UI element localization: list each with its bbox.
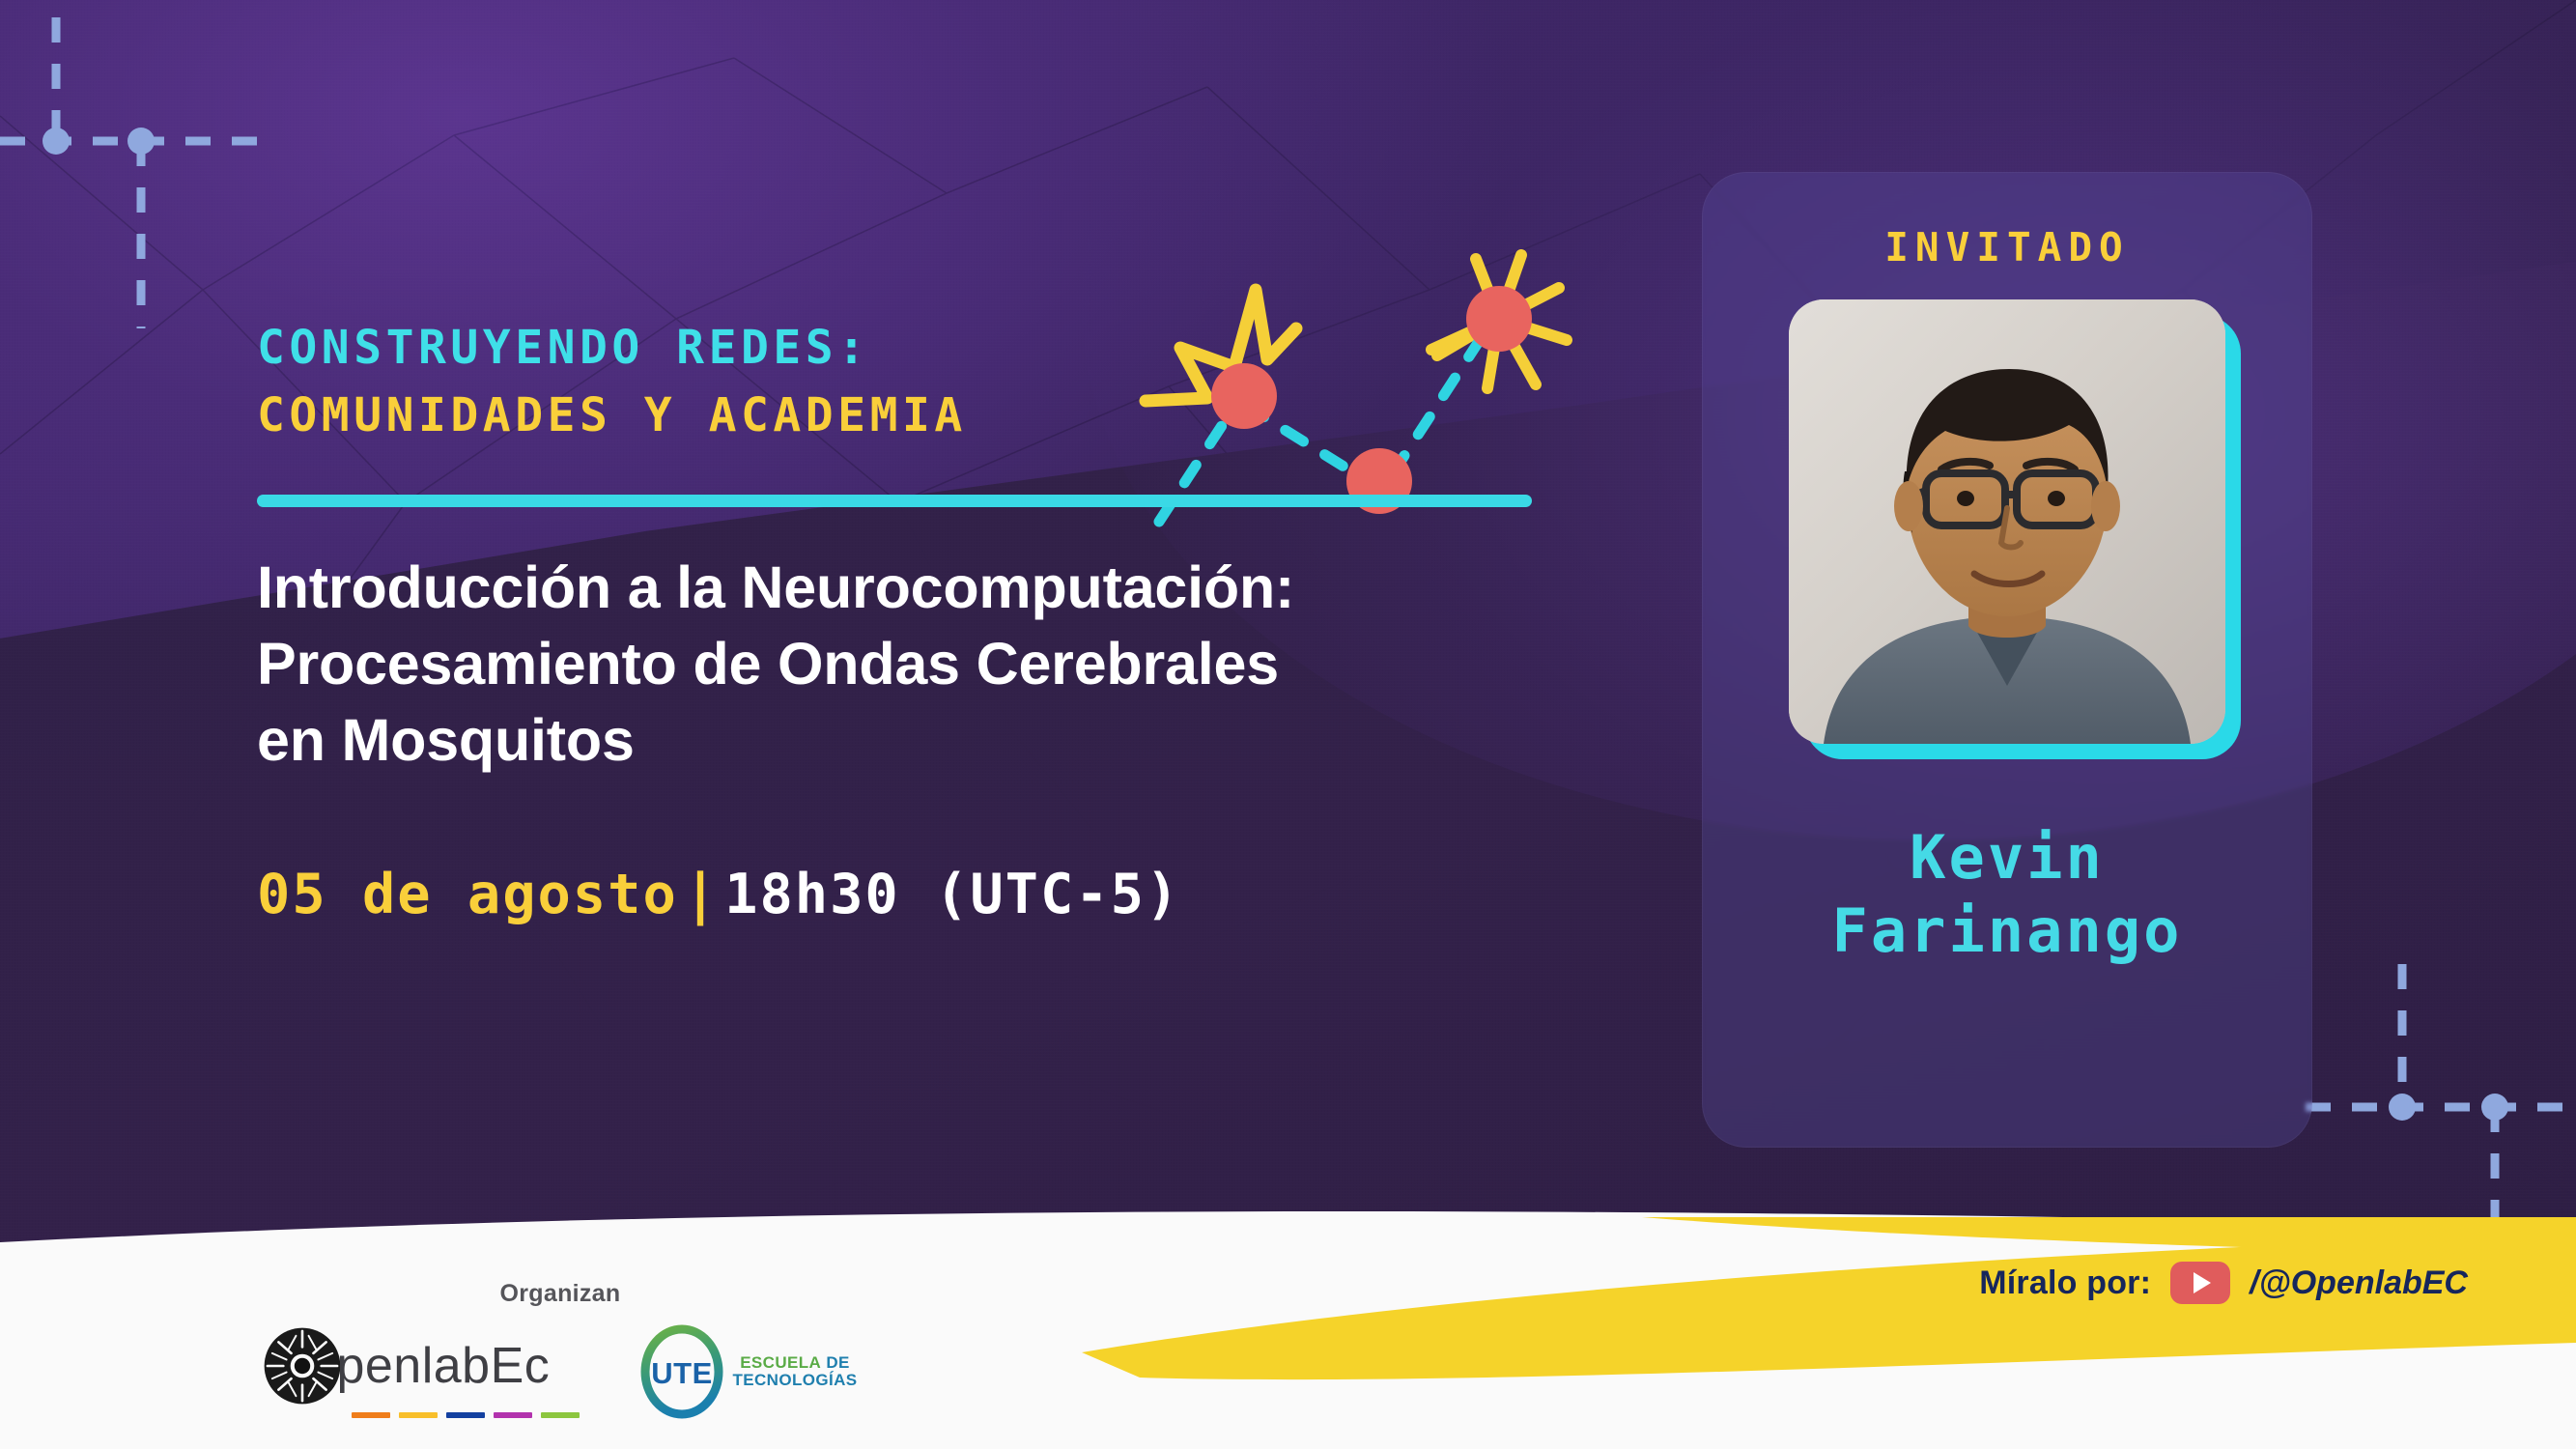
event-content: CONSTRUYENDO REDES: COMUNIDADES Y ACADEM… [257,319,1590,926]
svg-text:UTE: UTE [652,1356,714,1390]
speaker-name: Kevin Farinango [1702,821,2312,967]
footer: Organizan [0,1198,2576,1449]
openlabec-logo: penlabEc [263,1326,580,1418]
watch-on-block[interactable]: Míralo por: /@OpenlabEC [1979,1262,2468,1304]
cyan-divider [257,495,1532,507]
talk-title-line-1: Introducción a la Neurocomputación: [257,550,1590,626]
ute-logo: UTE ESCUELA DE TECNOLOGÍAS [637,1321,857,1422]
openlabec-color-bars [352,1412,580,1418]
kicker-line-2: COMUNIDADES Y ACADEMIA [257,386,1590,445]
openlabec-wordmark: penlabEc [336,1341,550,1391]
talk-title-line-3: en Mosquitos [257,702,1590,779]
kicker-line-1: CONSTRUYENDO REDES: [257,319,1590,378]
ute-line-2: TECNOLOGÍAS [732,1372,857,1389]
watch-label: Míralo por: [1979,1264,2151,1302]
youtube-handle[interactable]: /@OpenlabEC [2250,1264,2468,1302]
speaker-photo [1789,299,2225,744]
circuit-dashed-icon-top-left [0,0,270,328]
ute-ring-icon: UTE [637,1321,726,1422]
organizer-logos: penlabEc [222,1321,898,1422]
speaker-photo-wrap [1789,299,2225,744]
speaker-role-label: INVITADO [1702,224,2312,270]
datetime-separator: | [678,863,724,926]
ute-line-1: ESCUELA DE [732,1354,857,1372]
avatar [1789,299,2225,744]
speaker-last-name: Farinango [1702,895,2312,968]
series-kicker: CONSTRUYENDO REDES: COMUNIDADES Y ACADEM… [257,319,1590,446]
ute-text-block: ESCUELA DE TECNOLOGÍAS [732,1354,857,1389]
youtube-play-icon[interactable] [2170,1262,2230,1304]
event-time: 18h30 (UTC-5) [724,863,1180,926]
organizers-label: Organizan [222,1280,898,1308]
event-date: 05 de agosto [257,863,678,926]
speaker-card: INVITADO [1702,172,2312,1148]
event-banner: CONSTRUYENDO REDES: COMUNIDADES Y ACADEM… [0,0,2576,1449]
event-datetime: 05 de agosto|18h30 (UTC-5) [257,863,1590,926]
circuit-dashed-icon-bottom-right [2306,918,2576,1246]
organizers-block: Organizan [222,1280,898,1422]
openlabec-mark-icon [263,1326,342,1406]
speaker-first-name: Kevin [1702,821,2312,895]
talk-title-line-2: Procesamiento de Ondas Cerebrales [257,626,1590,702]
talk-title: Introducción a la Neurocomputación: Proc… [257,550,1590,780]
